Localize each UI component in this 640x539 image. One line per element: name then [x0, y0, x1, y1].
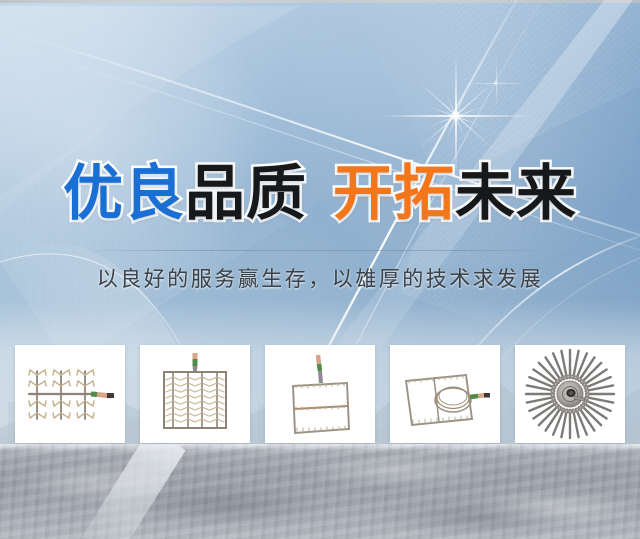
subtitle-divider: [85, 250, 555, 251]
product-thumbnail-strip: [15, 345, 625, 443]
spike-rack-icon: [140, 345, 250, 443]
loop-plate-icon: [390, 345, 500, 443]
headline-part-pinzhi: 品质: [185, 159, 307, 229]
product-card-4[interactable]: [390, 345, 500, 443]
headline-part-youliang: 优良: [63, 159, 185, 229]
headline-part-weilai: 未来: [455, 159, 577, 229]
headline: 优良品质开拓未来: [0, 164, 640, 224]
subtitle-block: 以良好的服务赢生存，以雄厚的技术求发展: [0, 250, 640, 293]
ground-surface: [0, 444, 640, 539]
promotional-banner: 优良品质开拓未来 以良好的服务赢生存，以雄厚的技术求发展: [0, 0, 640, 539]
product-card-1[interactable]: [15, 345, 125, 443]
product-card-5[interactable]: [515, 345, 625, 443]
ground-shadow-1: [120, 484, 330, 528]
starburst-wheel-icon: [515, 345, 625, 443]
ground-shadow-2: [380, 498, 580, 538]
product-card-3[interactable]: [265, 345, 375, 443]
branch-rack-icon: [15, 345, 125, 443]
headline-part-kaituo: 开拓: [333, 159, 455, 229]
ground-highlight-2: [300, 454, 490, 488]
subtitle-text: 以良好的服务赢生存，以雄厚的技术求发展: [0, 263, 640, 293]
product-card-2[interactable]: [140, 345, 250, 443]
frame-rack-icon: [265, 345, 375, 443]
